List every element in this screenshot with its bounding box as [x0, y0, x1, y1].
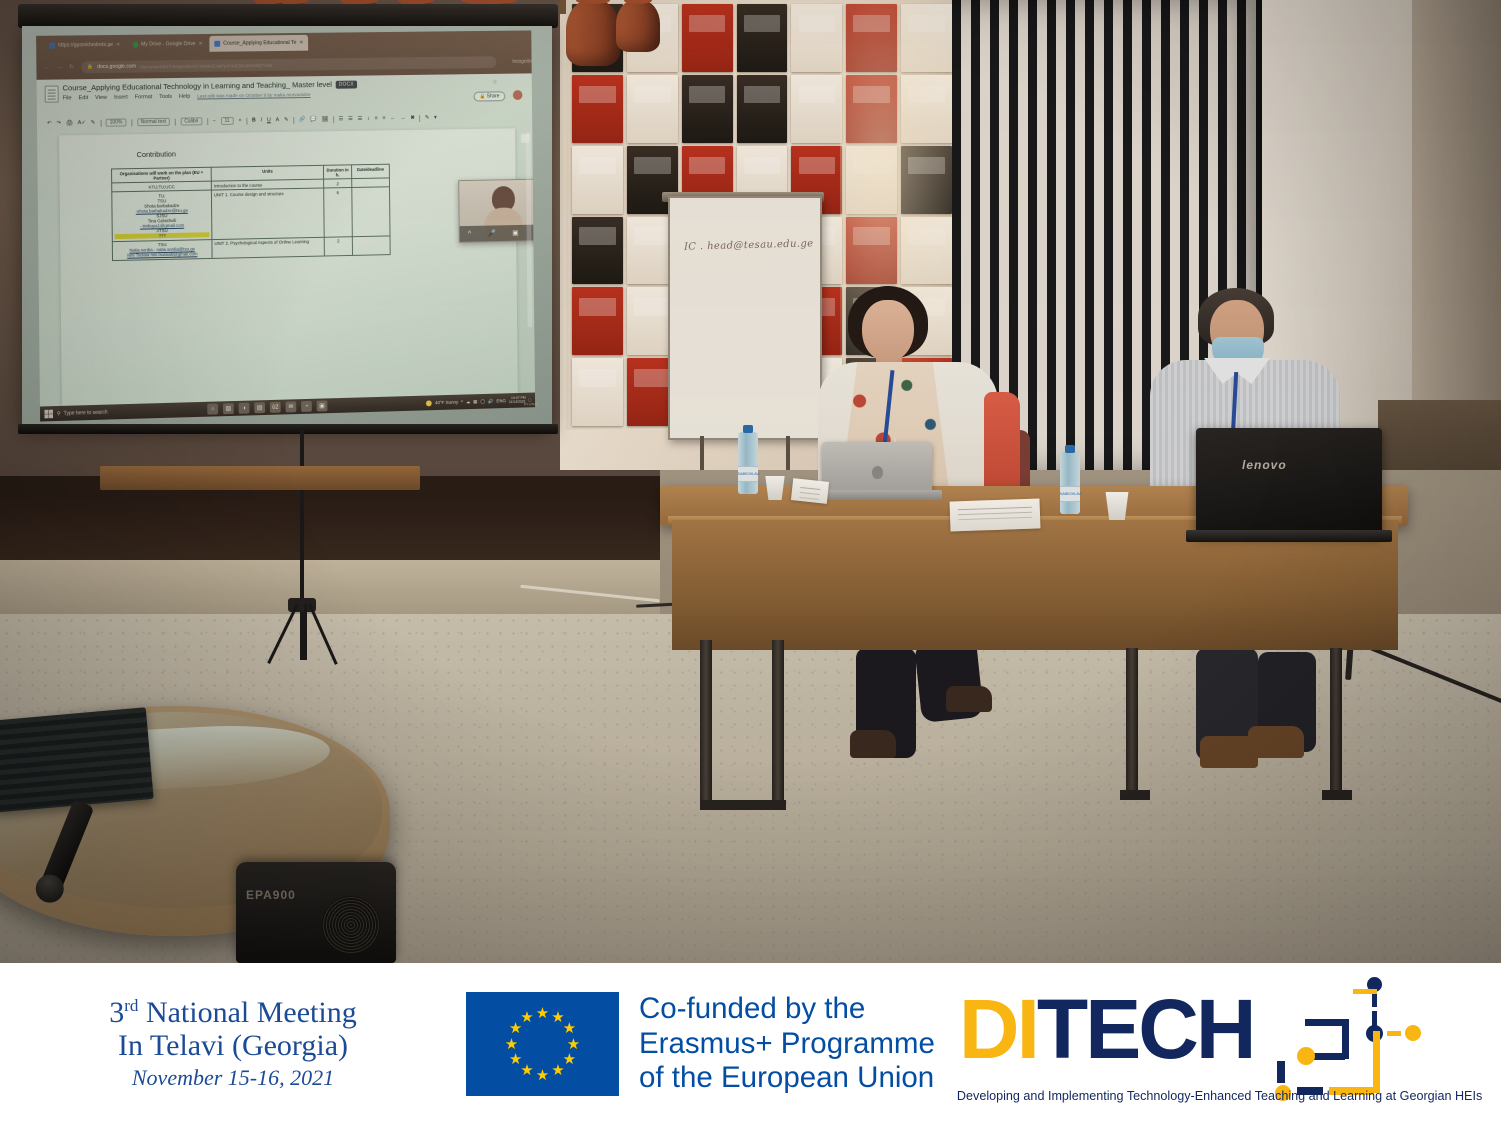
ditech-di: DI	[959, 982, 1037, 1076]
conference-room-photo: IC . head@tesau.edu.ge	[0, 0, 1501, 963]
meeting-line-1: 3rd National Meeting	[0, 996, 466, 1030]
microphone-icon[interactable]: 🎤	[488, 229, 496, 237]
video-call-controls: ^ 🎤 ▣ ☎	[460, 224, 535, 242]
network-link	[1387, 1031, 1401, 1036]
table-leg	[700, 640, 712, 810]
audio-amplifier: EPA900	[236, 862, 396, 963]
eu-line-1: Co-funded by the	[639, 992, 935, 1027]
wooden-shelf	[100, 466, 420, 490]
favicon-icon	[132, 42, 138, 48]
incognito-label: Incognito	[512, 59, 531, 65]
shoe	[850, 730, 896, 758]
comment-icon[interactable]: 💬	[310, 117, 317, 123]
wall-display-card	[572, 358, 623, 426]
document-title-text: Course_Applying Educational Technology i…	[62, 80, 331, 93]
apple-logo-icon	[872, 466, 883, 479]
network-link	[1277, 1061, 1285, 1083]
table-foot	[700, 800, 786, 810]
speaker-face	[862, 300, 914, 362]
network-link	[1372, 993, 1377, 1007]
menu-file[interactable]: File	[63, 95, 72, 101]
browser-tab-active[interactable]: Course_Applying Educational Te ✕	[209, 35, 308, 52]
align-right-icon[interactable]: ☰	[358, 116, 363, 122]
cell-date	[352, 187, 390, 236]
col-date: Date/deadline	[352, 164, 390, 179]
table-foot	[1120, 790, 1150, 800]
bottle-cap	[1065, 445, 1075, 453]
bold-icon[interactable]: B	[252, 118, 256, 124]
reload-icon[interactable]: ↻	[69, 64, 74, 70]
indent-less-icon[interactable]: ←	[390, 115, 395, 121]
back-icon[interactable]: ←	[44, 65, 50, 71]
footer-banner: 3rd National Meeting In Telavi (Georgia)…	[0, 963, 1501, 1125]
menu-view[interactable]: View	[95, 95, 107, 101]
tab-title: Course_Applying Educational Te	[223, 40, 296, 47]
onedrive-icon[interactable]: ☁	[466, 399, 470, 405]
wall-display-card	[791, 75, 842, 143]
wall-display-card	[572, 287, 623, 355]
eu-flag-star: ★	[535, 1068, 550, 1083]
tripod-leg	[304, 604, 307, 660]
wall-display-card	[627, 75, 678, 143]
bulleted-list-icon[interactable]: ≡	[375, 116, 378, 122]
menu-help[interactable]: Help	[179, 94, 190, 100]
wall-display-card	[682, 4, 733, 72]
wall-display-card	[791, 4, 842, 72]
weather-label[interactable]: 40°F Sunny	[435, 400, 458, 406]
shoe	[946, 686, 992, 712]
wall-display-card	[572, 217, 623, 285]
font-decrease-icon[interactable]: −	[213, 118, 216, 124]
language-label[interactable]: ENG	[496, 398, 506, 403]
tab-title: https://gpsmkhedrebi.ge	[58, 42, 113, 49]
favicon-icon	[214, 41, 220, 47]
print-icon[interactable]: 🖨	[66, 120, 73, 126]
cell-organisations: TU;TSUShota barbakadze-shota.barbakadze@…	[112, 190, 212, 241]
chevron-down-icon[interactable]: ▾	[434, 115, 437, 121]
star-icon[interactable]: ☆	[492, 79, 497, 86]
mail-icon[interactable]: ✉	[285, 401, 296, 412]
text-color-icon[interactable]: A	[276, 117, 280, 123]
favicon-icon	[49, 43, 55, 49]
meeting-line-2: In Telavi (Georgia)	[0, 1029, 466, 1063]
paint-format-icon[interactable]: ✎	[91, 120, 96, 126]
macbook-laptop[interactable]	[822, 442, 932, 494]
stone-ledge	[0, 560, 690, 620]
menu-tools[interactable]: Tools	[159, 94, 172, 100]
browser-tab[interactable]: My Drive - Google Drive ✕	[127, 36, 208, 53]
task-view-icon[interactable]: ▧	[223, 403, 234, 414]
eu-flag-star: ★	[551, 1063, 566, 1078]
document-title[interactable]: Course_Applying Educational Technology i…	[62, 80, 356, 93]
zoom-select[interactable]: 100%	[106, 118, 127, 126]
video-call-overlay[interactable]: ^ 🎤 ▣ ☎	[458, 178, 535, 242]
numbered-list-icon[interactable]: ≡	[382, 116, 385, 122]
meeting-dates: November 15-16, 2021	[0, 1064, 466, 1093]
wall-display-card	[572, 146, 623, 214]
network-link	[1353, 989, 1377, 994]
start-button-icon[interactable]	[44, 409, 53, 418]
share-label: Share	[487, 93, 500, 99]
table-foot	[1322, 790, 1352, 800]
table-leg	[772, 640, 784, 800]
search-icon: ⚲	[57, 410, 61, 416]
wall-display-card	[572, 75, 623, 143]
clay-pot	[566, 0, 620, 66]
cell-date	[352, 235, 390, 255]
eu-flag-star: ★	[504, 1037, 519, 1052]
ditech-tagline: Developing and Implementing Technology-E…	[957, 1089, 1449, 1103]
projector-screen-bottom-bar	[18, 424, 558, 434]
style-select[interactable]: Normal text	[137, 118, 170, 126]
url-path: /document/d/1TnMxpAsD2SCm3duJCIwFpJHKbGE…	[140, 62, 272, 69]
italic-icon[interactable]: I	[261, 117, 263, 123]
printed-handout	[791, 478, 829, 504]
meeting-ordinal-suffix: rd	[124, 996, 138, 1015]
meeting-title-rest: National Meeting	[138, 996, 356, 1029]
contribution-table: Organisations will work on the plan (EU …	[111, 164, 391, 261]
eu-funding-text: Co-funded by the Erasmus+ Programme of t…	[639, 992, 935, 1096]
lenovo-base	[1186, 530, 1392, 542]
folder-icon[interactable]: ▤	[254, 402, 265, 413]
col-duration: Duration in h.	[323, 165, 351, 179]
screenshot-root: IC . head@tesau.edu.ge	[0, 0, 1501, 1125]
vertical-scrollbar[interactable]	[526, 132, 533, 327]
system-tray: 40°F Sunny ^ ☁ ▦ ◯ 🔊 ENG 10:07 PM 11/14/…	[426, 396, 531, 406]
ditech-wordmark: DITECH	[959, 987, 1254, 1071]
eu-flag-star: ★	[535, 1006, 550, 1021]
lenovo-laptop[interactable]: lenovo	[1196, 428, 1382, 536]
battery-icon[interactable]: ▦	[473, 399, 477, 405]
wall-display-card	[682, 75, 733, 143]
network-icon[interactable]: ◯	[480, 398, 485, 404]
browser-tab[interactable]: https://gpsmkhedrebi.ge ✕	[44, 37, 125, 54]
clear-format-icon[interactable]: ✖	[410, 115, 414, 121]
ditech-logo: DITECH Developing and Implementing Techn…	[953, 969, 1453, 1119]
lock-icon: 🔒	[87, 64, 93, 70]
app-icon[interactable]: ◔	[301, 401, 312, 412]
close-tab-icon[interactable]: ✕	[116, 42, 120, 48]
search-placeholder: Type here to search	[64, 409, 108, 416]
table-leg	[1330, 648, 1342, 798]
link-icon[interactable]: 🔗	[299, 117, 306, 123]
menu-edit[interactable]: Edit	[79, 95, 89, 101]
google-docs-window: Course_Applying Educational Technology i…	[37, 73, 535, 411]
eu-flag-star: ★	[520, 1010, 535, 1025]
table-row: TU;TSUShota barbakadze-shota.barbakadze@…	[112, 187, 390, 241]
macbook-base	[812, 490, 942, 500]
share-button[interactable]: 🔒 Share	[474, 91, 506, 101]
amplifier-model-label: EPA900	[246, 888, 296, 902]
water-bottle: NABEGHLAVI	[738, 432, 758, 494]
meeting-title-block: 3rd National Meeting In Telavi (Georgia)…	[0, 996, 466, 1093]
printed-handout	[950, 498, 1041, 531]
last-edit-label[interactable]: Last edit was made on October 9 by maka …	[197, 93, 310, 100]
cell-unit: UNIT 2. Psychological Aspects of Online …	[212, 237, 324, 258]
ditech-tech: TECH	[1037, 982, 1254, 1076]
line-spacing-icon[interactable]: ↕	[367, 116, 370, 122]
european-union-flag: ★★★★★★★★★★★★	[466, 992, 619, 1096]
table-leg	[1126, 648, 1138, 798]
redo-icon[interactable]: ↷	[56, 120, 61, 126]
network-node-icon	[1297, 1047, 1315, 1065]
cd-case-stack	[0, 707, 154, 813]
wall-display-card	[737, 4, 788, 72]
flipchart-leg-right	[786, 436, 790, 470]
undo-icon[interactable]: ↶	[47, 121, 52, 127]
taskbar-search[interactable]: ⚲ Type here to search	[57, 407, 166, 416]
volume-icon[interactable]: 🔊	[488, 398, 494, 404]
menu-format[interactable]: Format	[135, 94, 153, 100]
spelling-icon[interactable]: A✓	[78, 120, 86, 126]
font-size-input[interactable]: 11	[221, 117, 234, 125]
underline-icon[interactable]: U	[267, 117, 271, 123]
bottle-label: NABEGHLAVI	[1060, 486, 1080, 502]
section-heading: Contribution	[137, 149, 176, 159]
eu-flag-star: ★	[562, 1021, 577, 1036]
tray-chevron-icon[interactable]: ^	[461, 399, 463, 404]
clay-pot	[616, 0, 660, 52]
indent-more-icon[interactable]: →	[400, 115, 405, 121]
close-tab-icon[interactable]: ✕	[198, 41, 202, 47]
lock-icon[interactable]: ὑ2	[270, 402, 281, 413]
document-page: Contribution Organisations will work on …	[59, 128, 518, 407]
highlight-icon[interactable]: ✎	[284, 117, 288, 123]
address-bar[interactable]: 🔒 docs.google.com /document/d/1TnMxpAsD2…	[81, 56, 496, 73]
eu-funding-block: ★★★★★★★★★★★★ Co-funded by the Erasmus+ P…	[466, 992, 935, 1096]
projector-screen-case	[18, 4, 558, 28]
align-center-icon[interactable]: ☰	[348, 116, 353, 122]
network-link	[1373, 1031, 1380, 1093]
cell-unit: UNIT 1. Course design and structure	[211, 188, 324, 239]
shoe	[1248, 726, 1304, 758]
flipchart-leg-left	[700, 436, 704, 470]
align-left-icon[interactable]: ☰	[338, 116, 343, 122]
weather-sun-icon	[426, 400, 432, 406]
cortana-icon[interactable]: ○	[207, 403, 218, 414]
lenovo-brand-label: lenovo	[1242, 458, 1287, 472]
font-increase-icon[interactable]: +	[238, 118, 241, 124]
meeting-ordinal-number: 3	[109, 996, 124, 1029]
docs-menubar: File Edit View Insert Format Tools Help …	[63, 92, 311, 101]
format-badge: DOCX	[336, 81, 357, 89]
cell-duration: 6	[324, 188, 353, 237]
bottle-label: NABEGHLAVI	[738, 466, 758, 482]
avatar[interactable]	[513, 90, 523, 100]
eu-flag-star: ★	[566, 1037, 581, 1052]
menu-insert[interactable]: Insert	[114, 95, 128, 101]
flipchart-board: IC . head@tesau.edu.ge	[668, 196, 822, 440]
speaker-grille	[322, 896, 380, 954]
water-bottle: NABEGHLAVI	[1060, 452, 1080, 514]
url-host: docs.google.com	[97, 64, 136, 70]
chevron-up-icon[interactable]: ^	[468, 230, 471, 237]
eu-flag-star: ★	[508, 1052, 523, 1067]
tab-title: My Drive - Google Drive	[141, 41, 196, 48]
forward-icon[interactable]: →	[57, 65, 63, 71]
chrome-icon[interactable]: ◑	[239, 403, 250, 414]
projector-screen: https://gpsmkhedrebi.ge ✕ My Drive - Goo…	[22, 26, 552, 426]
bottle-cap	[743, 425, 753, 433]
wall-skirting	[0, 496, 668, 560]
image-icon[interactable]: 🖼	[322, 116, 329, 122]
camera-icon[interactable]: ▣	[512, 229, 518, 237]
eu-line-3: of the European Union	[639, 1061, 935, 1096]
flipchart-handwriting: IC . head@tesau.edu.ge	[684, 238, 814, 252]
document-icon	[45, 86, 59, 103]
wall-display-card	[737, 75, 788, 143]
cell-organisations: TSUNatia sordia - natia.sordia@tsu.geNin…	[112, 239, 212, 260]
eu-line-2: Erasmus+ Programme	[639, 1027, 935, 1062]
window-icon[interactable]: ▣	[317, 400, 328, 411]
projector-brand: ProNet	[524, 401, 539, 406]
close-tab-icon[interactable]: ✕	[299, 40, 303, 46]
font-select[interactable]: Calibri	[180, 117, 202, 125]
network-node-icon	[1405, 1025, 1421, 1041]
taskbar-apps: ○▧◑▤ὑ2✉◔▣	[207, 400, 327, 414]
cell-duration: 2	[324, 236, 352, 255]
browser-chrome: https://gpsmkhedrebi.ge ✕ My Drive - Goo…	[36, 30, 532, 79]
editing-mode-icon[interactable]: ✎	[425, 115, 429, 121]
